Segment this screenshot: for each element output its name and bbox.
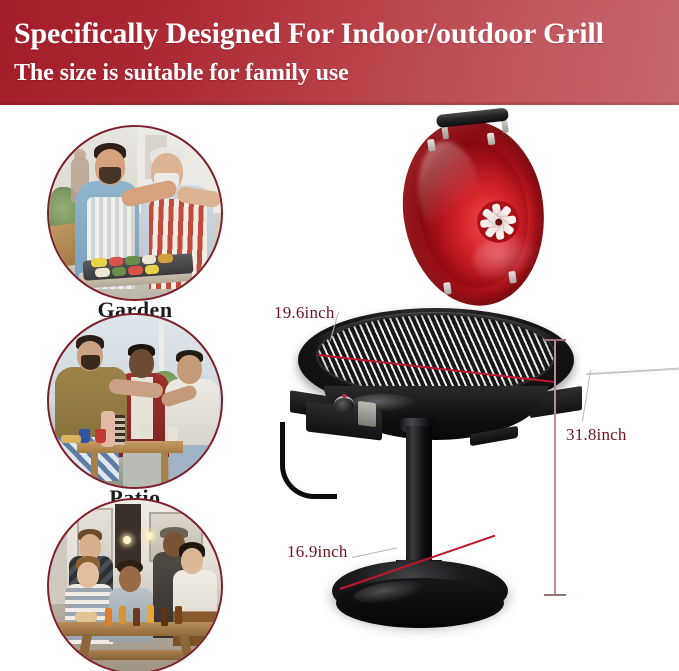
power-cord — [280, 422, 337, 499]
grill-lid — [391, 111, 556, 319]
support-rod — [582, 370, 592, 422]
dimension-label-height: 31.8inch — [566, 425, 627, 445]
scene-card-patio: Patio — [47, 313, 223, 489]
scene-photo-ring — [47, 313, 223, 489]
temperature-knob[interactable] — [334, 396, 354, 414]
dimension-label-base-width: 16.9inch — [287, 542, 348, 562]
dimension-label-diameter: 19.6inch — [274, 303, 335, 323]
warming-rack-rod — [586, 363, 679, 375]
dimension-cap-bottom — [544, 594, 566, 596]
page-subtitle: The size is suitable for family use — [14, 59, 349, 87]
grill-bowl — [298, 298, 574, 416]
scene-card-garden: Garden — [47, 125, 223, 301]
pedestal-post — [406, 426, 432, 576]
header-divider — [0, 102, 679, 105]
photo-rv — [49, 500, 221, 671]
scene-card-rv: RV — [47, 498, 223, 671]
scene-photo-ring — [47, 498, 223, 671]
photo-garden — [49, 127, 221, 299]
product-photo-grill — [236, 108, 679, 671]
dimension-cap-top — [544, 339, 566, 341]
header-banner: Specifically Designed For Indoor/outdoor… — [0, 0, 679, 105]
scene-photo-ring — [47, 125, 223, 301]
page-title: Specifically Designed For Indoor/outdoor… — [14, 17, 604, 51]
dimension-line-height — [554, 340, 556, 596]
infographic-canvas: Specifically Designed For Indoor/outdoor… — [0, 0, 679, 671]
photo-patio — [49, 315, 221, 487]
